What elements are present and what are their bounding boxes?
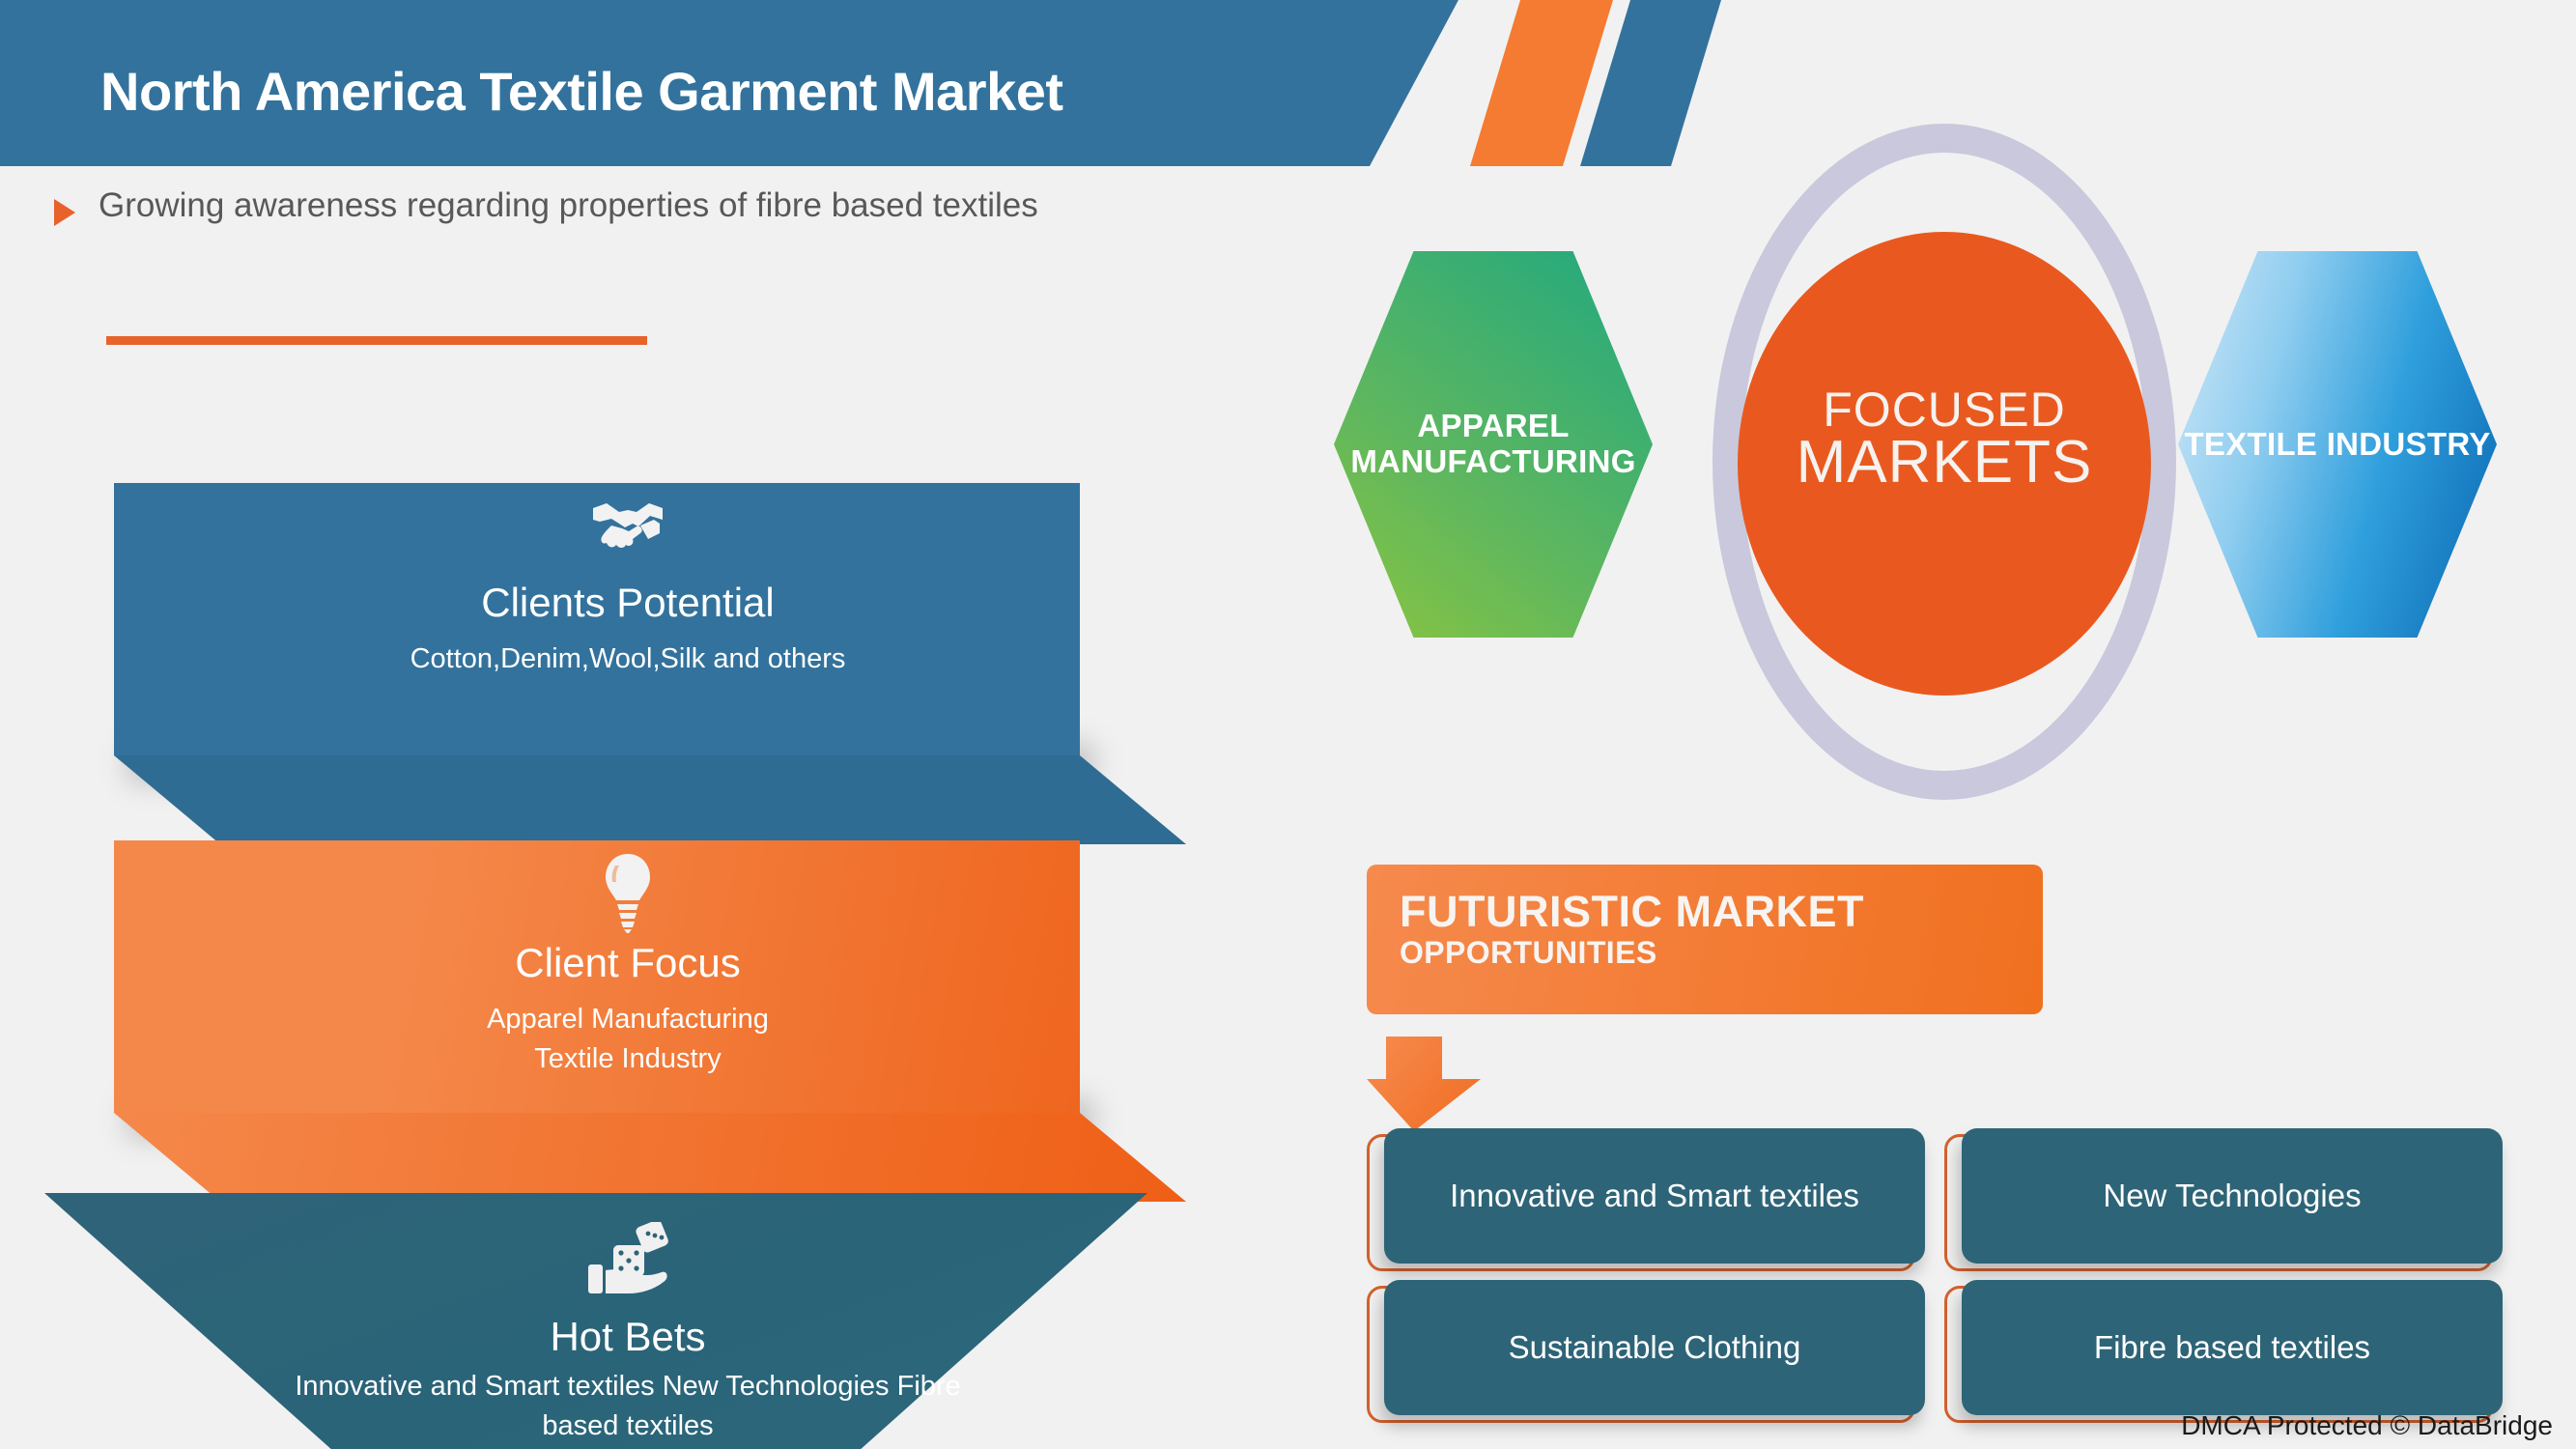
- hexagon-textile-label: TEXTILE INDUSTRY: [2178, 427, 2497, 463]
- funnel-stage-3-subtitle: Innovative and Smart textiles New Techno…: [290, 1367, 966, 1446]
- page-title: North America Textile Garment Market: [100, 60, 1063, 123]
- funnel-stage-1-wing: [114, 755, 1186, 844]
- tile-label: Innovative and Smart textiles: [1384, 1128, 1925, 1264]
- dice-in-hand-icon: [0, 1222, 1256, 1299]
- funnel-stage-2-wing: [114, 1113, 1186, 1202]
- hexagon-textile-industry: TEXTILE INDUSTRY: [2178, 251, 2497, 638]
- core-label-line1: FOCUSED: [1738, 386, 2151, 433]
- hexagon-apparel-label-line2: MANUFACTURING: [1350, 443, 1635, 479]
- dmca-credit: DMCA Protected © DataBridge: [2181, 1410, 2553, 1441]
- funnel-stage-1-subtitle: Cotton,Denim,Wool,Silk and others: [0, 639, 1256, 679]
- funnel-stage-2-title: Client Focus: [0, 940, 1256, 986]
- funnel-stage-2-subtitle-2: Textile Industry: [0, 1039, 1256, 1079]
- futuristic-banner-line1: FUTURISTIC MARKET: [1400, 890, 2043, 933]
- funnel-stage-3-title: Hot Bets: [0, 1314, 1256, 1360]
- slide-root: North America Textile Garment Market Gro…: [0, 0, 2576, 1449]
- bullet-text: Growing awareness regarding properties o…: [99, 184, 1038, 228]
- accent-rule: [106, 336, 647, 345]
- down-arrow-icon: [1367, 1037, 1481, 1131]
- futuristic-banner-line2: OPPORTUNITIES: [1400, 933, 2043, 974]
- focused-markets-diagram: APPAREL MANUFACTURING TEXTILE INDUSTRY F…: [1347, 97, 2574, 850]
- funnel-stage-2-subtitle-1: Apparel Manufacturing: [0, 1000, 1256, 1039]
- hexagon-apparel-label-line1: APPAREL: [1417, 408, 1569, 443]
- opportunity-tile-4[interactable]: Fibre based textiles: [1944, 1280, 2497, 1421]
- core-label: FOCUSED MARKETS: [1738, 386, 2151, 493]
- tile-label: Fibre based textiles: [1962, 1280, 2503, 1415]
- futuristic-market-banner: FUTURISTIC MARKET OPPORTUNITIES: [1367, 865, 2043, 1014]
- opportunity-tile-2[interactable]: New Technologies: [1944, 1128, 2497, 1269]
- hexagon-apparel-manufacturing: APPAREL MANUFACTURING: [1334, 251, 1653, 638]
- funnel-diagram: Clients Potential Cotton,Denim,Wool,Silk…: [0, 454, 1256, 1439]
- handshake-icon: [0, 500, 1256, 558]
- bullet-row: Growing awareness regarding properties o…: [54, 184, 1368, 228]
- opportunity-tile-3[interactable]: Sustainable Clothing: [1367, 1280, 1919, 1421]
- funnel-stage-1-title: Clients Potential: [0, 580, 1256, 626]
- triangle-right-icon: [54, 199, 75, 226]
- tile-label: Sustainable Clothing: [1384, 1280, 1925, 1415]
- opportunity-tile-1[interactable]: Innovative and Smart textiles: [1367, 1128, 1919, 1269]
- lightbulb-icon: [0, 852, 1256, 933]
- core-label-line2: MARKETS: [1738, 433, 2151, 493]
- tile-label: New Technologies: [1962, 1128, 2503, 1264]
